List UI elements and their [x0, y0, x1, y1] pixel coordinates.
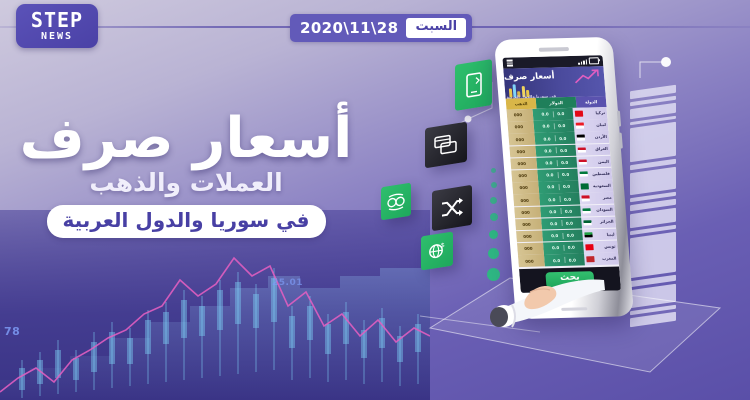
- country-name: السعودية: [593, 184, 611, 188]
- shuffle-exchange-icon[interactable]: [432, 185, 472, 231]
- flag-icon: [583, 220, 591, 226]
- phone-side-button[interactable]: [617, 111, 621, 127]
- cell-dollar: 0.00.0: [532, 108, 573, 121]
- weekday-value: السبت: [406, 18, 466, 38]
- table-row[interactable]: المغرب0.00.0000: [518, 253, 619, 267]
- dollar-sell: 0.0: [568, 245, 575, 250]
- dollar-buy: 0.0: [553, 258, 560, 263]
- flag-icon: [581, 184, 589, 190]
- rates-table-body: تركيا0.00.0000لبنان0.00.0000الأردن0.00.0…: [506, 107, 619, 269]
- flag-icon: [581, 196, 589, 202]
- progress-dot: [491, 168, 496, 173]
- dollar-buy: 0.0: [550, 221, 557, 226]
- cell-gold: 000: [506, 133, 535, 145]
- scope-badge: في سوريا والدول العربية: [47, 205, 326, 238]
- status-indicators: [578, 57, 599, 65]
- mobile-payment-icon[interactable]: [455, 59, 492, 111]
- flag-icon: [579, 159, 587, 165]
- signal-icon: [578, 60, 587, 65]
- country-name: مصر: [603, 196, 612, 200]
- cell-country: فلسطين: [577, 168, 612, 180]
- flag-icon: [577, 135, 585, 141]
- cell-country: ليبيا: [582, 228, 617, 240]
- cell-dollar: 0.00.0: [537, 169, 578, 182]
- dollar-sell: 0.0: [569, 257, 576, 262]
- cell-dollar: 0.00.0: [533, 120, 574, 133]
- phone-speaker: [539, 47, 569, 52]
- headline-block: أسعار صرف العملات والذهب في سوريا والدول…: [0, 112, 372, 238]
- cell-dollar: 0.00.0: [538, 181, 579, 194]
- flag-icon: [580, 171, 588, 177]
- country-name: تونس: [604, 244, 615, 248]
- dollar-sell: 0.0: [562, 172, 569, 177]
- cell-country: اليمن: [576, 156, 611, 168]
- cell-country: المغرب: [584, 253, 619, 265]
- dollar-buy: 0.0: [542, 124, 549, 129]
- cell-country: تركيا: [573, 107, 608, 119]
- phone-side-button[interactable]: [619, 133, 623, 149]
- flag-icon: [576, 123, 584, 129]
- cell-gold: 000: [513, 243, 544, 255]
- cell-dollar: 0.00.0: [534, 132, 575, 145]
- flag-icon: [586, 256, 594, 262]
- dollar-buy: 0.0: [551, 233, 558, 238]
- cell-gold: 000: [510, 206, 541, 218]
- country-name: فلسطين: [592, 172, 610, 176]
- cell-country: الأردن: [574, 131, 609, 143]
- cell-gold: 000: [506, 121, 534, 133]
- country-name: المغرب: [602, 257, 617, 261]
- phone-screen: أسعار صرف في سوريا والدول العربية الدولة…: [502, 55, 621, 293]
- dollar-sell: 0.0: [559, 136, 566, 141]
- flag-icon: [575, 111, 583, 117]
- flag-icon: [578, 147, 586, 153]
- promo-banner: 78 25.01 STEP NEWS 2020\11\28 السبت أسعا…: [0, 0, 750, 400]
- menu-icon[interactable]: [507, 60, 513, 66]
- dollar-sell: 0.0: [557, 111, 564, 116]
- cell-dollar: 0.00.0: [542, 229, 583, 242]
- country-name: الجزائر: [600, 220, 614, 224]
- page-subtitle: العملات والذهب: [0, 169, 372, 197]
- flag-icon: [582, 208, 590, 214]
- background-chart: 78 25.01: [0, 210, 430, 400]
- cell-country: السعودية: [578, 180, 613, 192]
- cell-country: تونس: [583, 241, 618, 253]
- country-name: العراق: [595, 147, 608, 151]
- cell-dollar: 0.00.0: [543, 241, 584, 254]
- cell-country: السودان: [580, 204, 615, 216]
- dollar-sell: 0.0: [560, 148, 567, 153]
- cell-country: مصر: [579, 192, 614, 204]
- cell-country: لبنان: [573, 119, 608, 131]
- battery-icon: [589, 57, 600, 64]
- progress-dot: [489, 230, 498, 239]
- header-gold: الذهب: [506, 98, 537, 110]
- progress-dots: [487, 168, 500, 281]
- dollar-buy: 0.0: [548, 197, 555, 202]
- progress-dot: [490, 197, 497, 204]
- barcode-pillar: [630, 85, 676, 341]
- dollar-sell: 0.0: [558, 124, 565, 129]
- card-exchange-icon[interactable]: [425, 122, 467, 169]
- cell-gold: 000: [512, 230, 543, 242]
- country-name: ليبيا: [607, 232, 615, 236]
- date-badge: 2020\11\28 السبت: [290, 14, 472, 42]
- logo-step-text: STEP: [31, 10, 83, 30]
- step-news-logo[interactable]: STEP NEWS: [16, 4, 98, 48]
- cell-gold: 000: [506, 157, 537, 169]
- cell-dollar: 0.00.0: [541, 217, 582, 230]
- country-name: لبنان: [596, 123, 606, 127]
- dollar-sell: 0.0: [564, 196, 571, 201]
- dollar-sell: 0.0: [563, 184, 570, 189]
- chart-label-78: 78: [4, 325, 20, 338]
- country-name: الأردن: [595, 135, 607, 139]
- cell-gold: 000: [509, 194, 540, 206]
- hand-illustration: [486, 272, 606, 332]
- date-value: 2020\11\28: [300, 19, 398, 37]
- cell-gold: 000: [507, 170, 538, 182]
- cell-gold: 000: [506, 145, 536, 157]
- dollar-buy: 0.0: [547, 185, 554, 190]
- globe-currency-icon[interactable]: $: [421, 231, 453, 270]
- logo-news-text: NEWS: [41, 32, 73, 42]
- cell-gold: 000: [514, 255, 545, 267]
- flag-icon: [584, 232, 592, 238]
- trend-arrow-icon: [574, 69, 601, 84]
- dollar-buy: 0.0: [541, 112, 548, 117]
- progress-dot: [490, 213, 498, 221]
- dollar-sell: 0.0: [567, 233, 574, 238]
- dollar-sell: 0.0: [561, 160, 568, 165]
- flag-icon: [585, 244, 593, 250]
- progress-dot: [491, 182, 497, 188]
- cell-dollar: 0.00.0: [544, 254, 585, 267]
- header-country: الدولة: [576, 96, 607, 108]
- dollar-buy: 0.0: [543, 136, 550, 141]
- country-name: اليمن: [598, 159, 609, 163]
- cell-dollar: 0.00.0: [539, 193, 580, 206]
- dollar-buy: 0.0: [545, 160, 552, 165]
- svg-text:$: $: [441, 243, 445, 250]
- dollar-buy: 0.0: [546, 173, 553, 178]
- dollar-sell: 0.0: [566, 221, 573, 226]
- dollar-buy: 0.0: [544, 148, 551, 153]
- progress-dot: [488, 248, 499, 259]
- dollar-buy: 0.0: [552, 245, 559, 250]
- app-banner: أسعار صرف في سوريا والدول العربية: [503, 66, 605, 99]
- cell-country: الجزائر: [581, 216, 616, 228]
- country-name: تركيا: [595, 111, 605, 115]
- cell-dollar: 0.00.0: [536, 156, 577, 169]
- cell-gold: 000: [511, 218, 542, 230]
- country-name: السودان: [596, 208, 613, 212]
- cell-dollar: 0.00.0: [535, 144, 576, 157]
- dollar-buy: 0.0: [549, 209, 556, 214]
- cell-dollar: 0.00.0: [540, 205, 581, 218]
- cell-gold: 000: [508, 182, 539, 194]
- currency-exchange-icon[interactable]: [381, 183, 411, 221]
- cell-country: العراق: [575, 143, 610, 155]
- dollar-sell: 0.0: [565, 209, 572, 214]
- chart-label-25: 25.01: [272, 278, 303, 288]
- page-title: أسعار صرف: [0, 112, 372, 165]
- cell-gold: 000: [506, 109, 533, 121]
- app-banner-title: أسعار صرف: [504, 71, 555, 82]
